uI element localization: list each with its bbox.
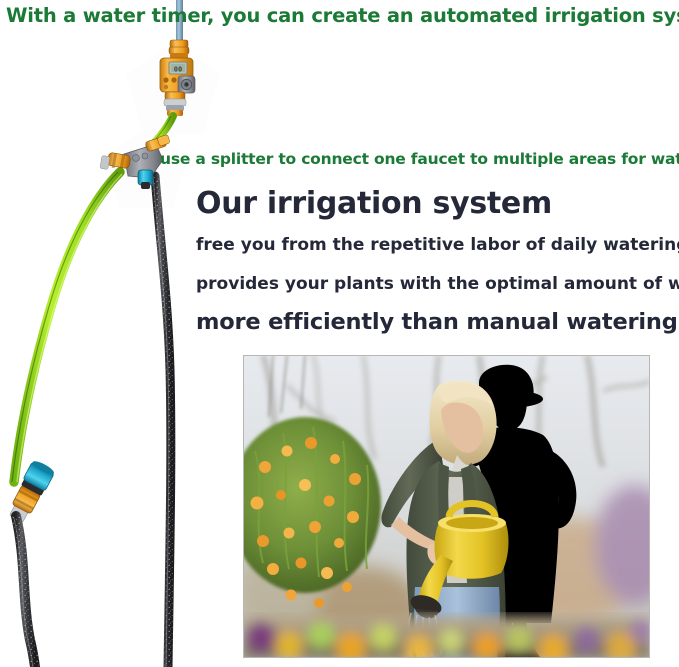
foreground-flower-bed	[243, 617, 650, 658]
svg-text:00: 00	[174, 66, 182, 74]
soaker-hose-right	[153, 176, 171, 667]
benefit-line-1: free you from the repetitive labor of da…	[196, 235, 679, 255]
soaker-hose-left	[14, 516, 35, 667]
infographic-canvas: 00	[0, 0, 679, 667]
lifestyle-photo	[243, 355, 650, 658]
benefit-line-3: more efficiently than manual watering	[196, 309, 678, 335]
benefit-line-2: provides your plants with the optimal am…	[196, 274, 679, 294]
headline-splitter: use a splitter to connect one faucet to …	[160, 150, 679, 168]
headline-top: With a water timer, you can create an au…	[6, 4, 679, 27]
page-title: Our irrigation system	[196, 186, 552, 221]
expandable-green-hose	[12, 172, 122, 482]
